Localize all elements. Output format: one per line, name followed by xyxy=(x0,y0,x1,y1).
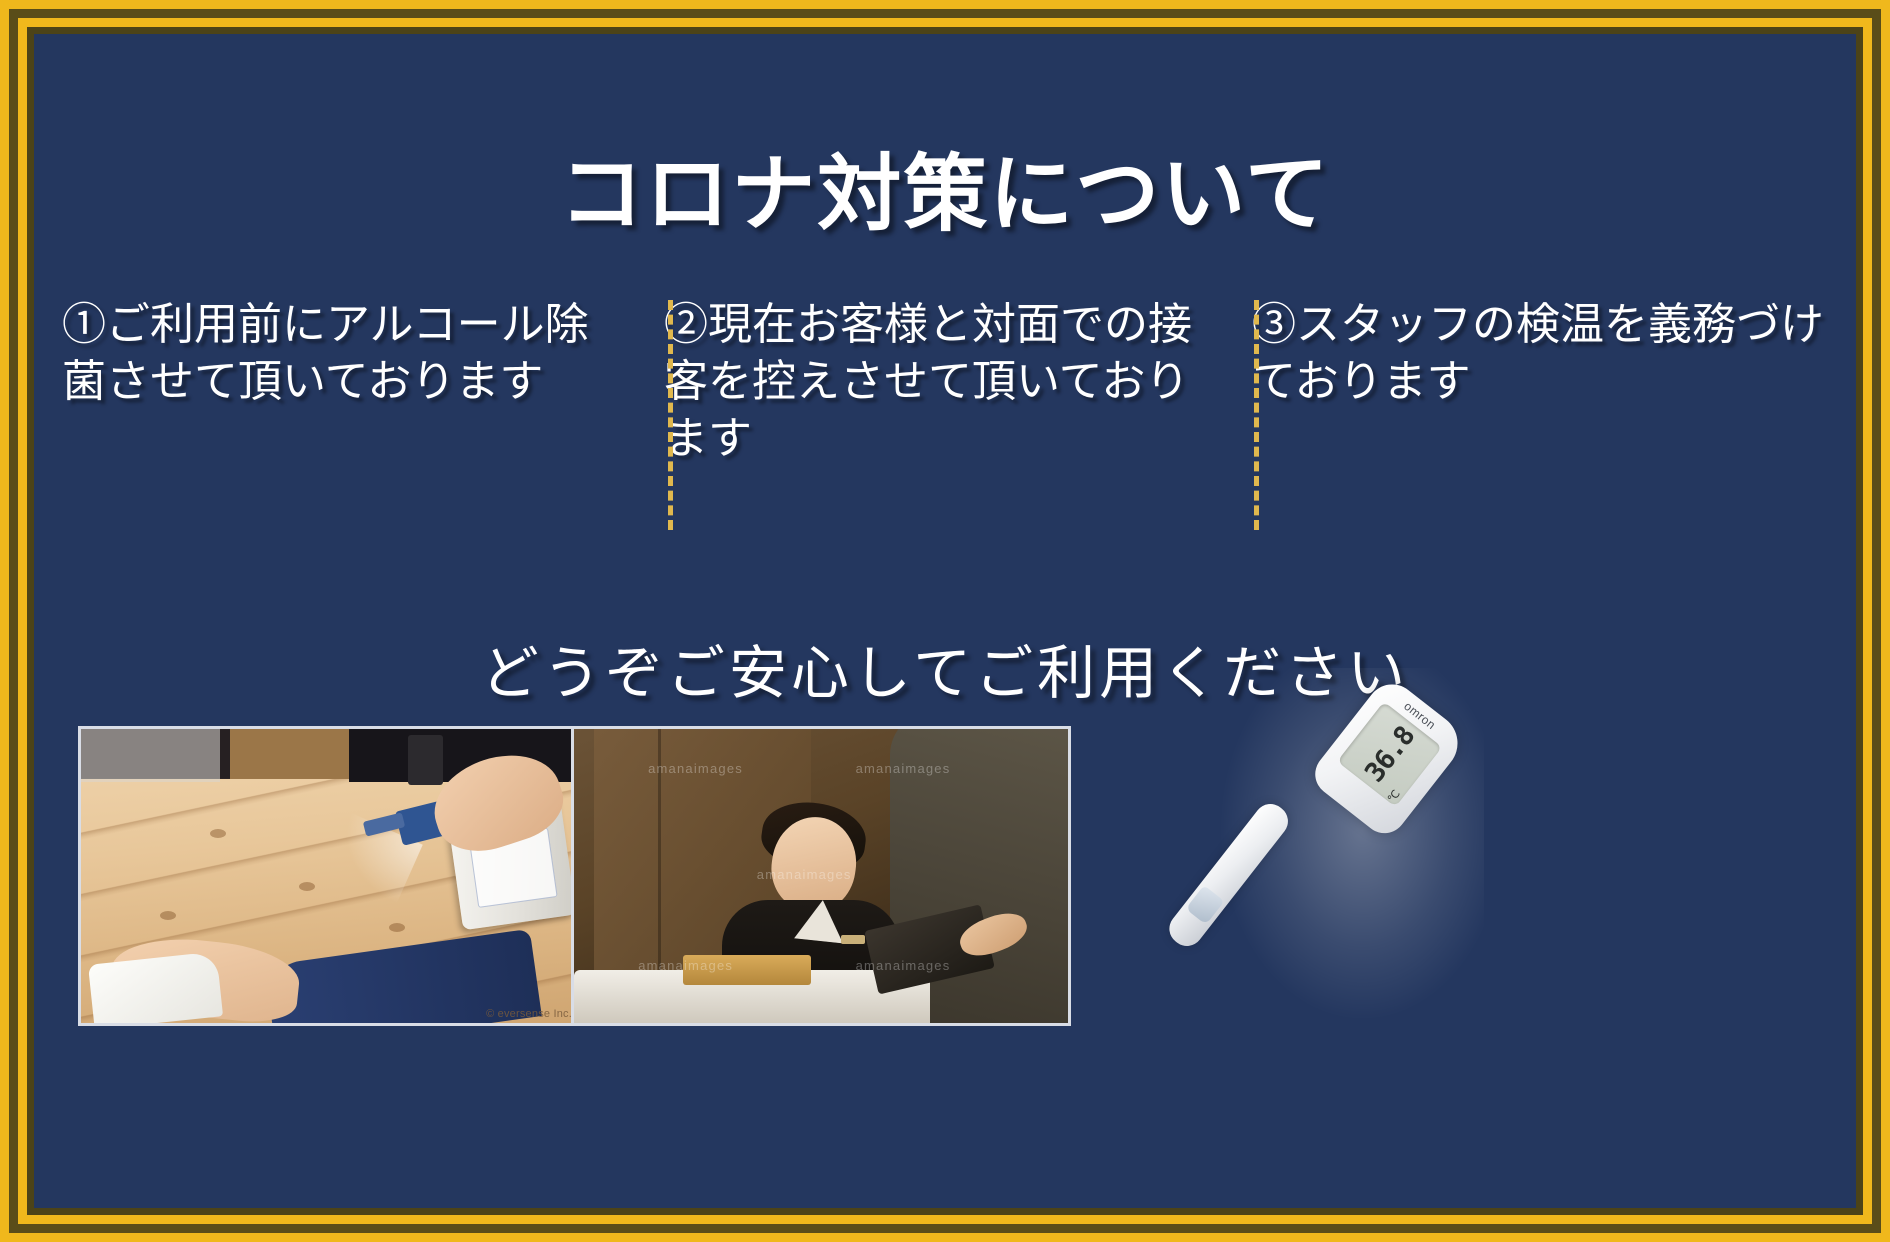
photo-1-credit: © eversense Inc. xyxy=(486,1008,572,1020)
photo-2-watermark: amanaimages xyxy=(757,867,852,882)
poster: コロナ対策について ①ご利用前にアルコール除菌させて頂いております ②現在お客様… xyxy=(0,0,1890,1242)
photo-2-watermark: amanaimages xyxy=(638,958,733,973)
photo-2-watermark: amanaimages xyxy=(856,761,951,776)
page-title: コロナ対策について xyxy=(34,154,1856,238)
photo-row: © eversense Inc. amanaimages amanaimages xyxy=(34,722,1856,1152)
photo-2-staff-name-badge xyxy=(841,935,866,944)
measure-item-3: ③スタッフの検温を義務づけております xyxy=(1232,296,1832,410)
photo-table-disinfection: © eversense Inc. xyxy=(78,726,580,1026)
digital-thermometer-image: omron 36.8 ℃ xyxy=(1204,658,1494,1038)
photo-reception-staff: amanaimages amanaimages amanaimages aman… xyxy=(571,726,1071,1026)
photo-1-background-mid xyxy=(230,729,349,779)
photo-1-wood-knot xyxy=(210,829,226,838)
dashed-divider-2 xyxy=(1254,300,1259,530)
photo-1-background-left xyxy=(81,729,220,782)
photo-1-cleaning-cloth xyxy=(88,952,223,1026)
measures-row: ①ご利用前にアルコール除菌させて頂いております ②現在お客様と対面での接客を控え… xyxy=(62,296,1832,536)
photo-1-chair-leg xyxy=(408,735,443,785)
tagline: どうぞご安心してご利用ください xyxy=(34,626,1856,710)
measure-item-2: ②現在お客様と対面での接客を控えさせて頂いております xyxy=(642,296,1232,468)
photo-1-wood-knot xyxy=(389,923,405,932)
photo-2-watermark: amanaimages xyxy=(856,958,951,973)
poster-content-area: コロナ対策について ①ご利用前にアルコール除菌させて頂いております ②現在お客様… xyxy=(34,34,1856,1208)
photo-1-wood-knot xyxy=(299,882,315,891)
photo-2-watermark: amanaimages xyxy=(648,761,743,776)
dashed-divider-1 xyxy=(668,300,673,530)
measure-item-1: ①ご利用前にアルコール除菌させて頂いております xyxy=(62,296,642,410)
